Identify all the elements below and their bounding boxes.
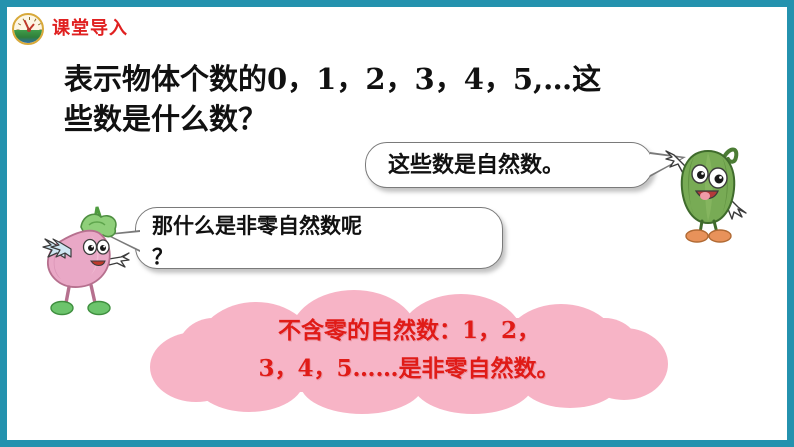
clock-tick (18, 23, 21, 25)
question-text: 表示物体个数的0，1，2，3，4，5,…这 些数是什么数？ (64, 59, 754, 139)
answer-cloud-text: 不含零的自然数：1，2， 3，4，5……是非零自然数。 (150, 312, 668, 388)
header-title: 课堂导入 (52, 20, 128, 38)
green-pepper-mascot (664, 133, 752, 245)
clock-tick (29, 17, 30, 20)
pink-eggplant-illustration (39, 203, 131, 327)
clock-face (12, 13, 44, 45)
speech-bubble-answer-natural-numbers: 这些数是自然数。 (365, 142, 653, 188)
slide-frame: 课堂导入 表示物体个数的0，1，2，3，4，5,…这 些数是什么数？ 这些数是自… (0, 0, 794, 447)
clock-landscape-scene (14, 30, 42, 43)
section-header: 课堂导入 (12, 12, 128, 46)
clock-tick (38, 23, 41, 25)
speech-bubble-text: 这些数是自然数。 (388, 152, 564, 178)
answer-cloud: 不含零的自然数：1，2， 3，4，5……是非零自然数。 (150, 290, 668, 414)
pink-eggplant-mascot (39, 203, 131, 327)
speech-bubble-text: 那什么是非零自然数呢 ？ (152, 213, 362, 269)
clock-tick (34, 18, 36, 21)
green-pepper-illustration (664, 133, 752, 245)
clock-compass-icon (12, 13, 44, 45)
slide-canvas: 课堂导入 表示物体个数的0，1，2，3，4，5,…这 些数是什么数？ 这些数是自… (7, 7, 787, 440)
speech-bubble-question-nonzero: 那什么是非零自然数呢 ？ (135, 207, 503, 269)
clock-center-pin (27, 28, 31, 32)
